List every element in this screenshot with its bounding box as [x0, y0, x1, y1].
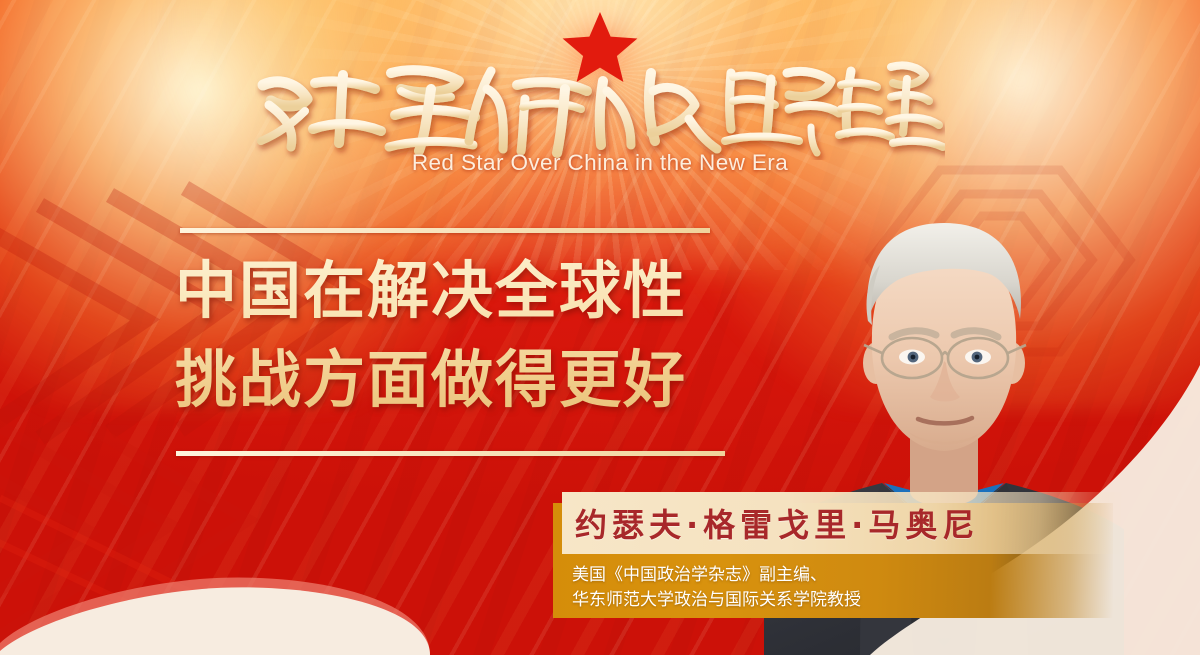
calligraphy-title [255, 55, 945, 160]
divider-rule-bottom [176, 451, 725, 456]
headline: 中国在解决全球性 挑战方面做得更好 [175, 246, 795, 424]
program-subtitle-en: Red Star Over China in the New Era [255, 150, 945, 176]
guest-role-line-1: 美国《中国政治学杂志》副主编、 [572, 563, 992, 588]
poster-canvas: Red Star Over China in the New Era 中国在解决… [0, 0, 1200, 655]
headline-line-2: 挑战方面做得更好 [175, 335, 795, 424]
guest-name: 约瑟夫·格雷戈里·马奥尼 [575, 500, 979, 546]
guest-role-line-2: 华东师范大学政治与国际关系学院教授 [572, 588, 992, 613]
headline-line-1: 中国在解决全球性 [175, 246, 795, 335]
guest-role: 美国《中国政治学杂志》副主编、 华东师范大学政治与国际关系学院教授 [572, 563, 992, 613]
divider-rule-top [180, 228, 710, 233]
swoosh-bottom-left [0, 475, 430, 655]
